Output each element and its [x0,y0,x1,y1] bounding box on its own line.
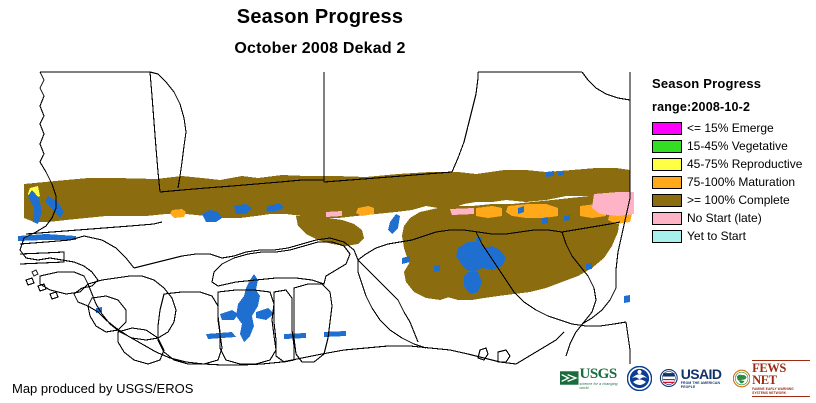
fewsnet-tagline: FAMINE EARLY WARNING SYSTEMS NETWORK [752,387,810,395]
legend-swatch-maturation [652,176,682,189]
usgs-logo[interactable]: USGS science for a changing world [560,363,620,393]
lake-small-i [624,295,630,303]
legend-item-yet-to-start[interactable]: Yet to Start [652,228,814,245]
legend-item-reproductive[interactable]: 45-75% Reproductive [652,156,814,173]
legend-swatch-yet-to-start [652,230,682,243]
legend-label-emerge: <= 15% Emerge [687,122,774,135]
legend-title: Season Progress [652,76,814,91]
legend-swatch-complete [652,194,682,207]
legend-label-reproductive: 45-75% Reproductive [687,158,802,171]
legend-range: range:2008-10-2 [652,100,814,114]
noaa-logo[interactable] [627,363,652,393]
logo-strip: USGS science for a changing world [560,362,810,394]
usgs-mark-icon [560,368,579,388]
legend-panel: Season Progress range:2008-10-2 <= 15% E… [648,70,814,260]
legend-item-vegetative[interactable]: 15-45% Vegetative [652,138,814,155]
legend-label-yet-to-start: Yet to Start [687,230,746,243]
maturation-zone-a [506,204,558,218]
usgs-tagline: science for a changing world [580,382,621,390]
legend-item-emerge[interactable]: <= 15% Emerge [652,120,814,137]
legend-item-complete[interactable]: >= 100% Complete [652,192,814,209]
maturation-zone-b [476,206,502,218]
legend-swatch-emerge [652,122,682,135]
usaid-wordmark: USAID [681,367,726,381]
map-canvas[interactable] [6,66,638,366]
legend-item-maturation[interactable]: 75-100% Maturation [652,174,814,191]
fewsnet-wordmark: FEWS NET [752,362,810,387]
no-start-zone-small-a [450,208,474,215]
no-start-zone [592,192,634,216]
lake-small-c [434,265,440,272]
usgs-wordmark: USGS [580,367,621,382]
map-credit: Map produced by USGS/EROS [12,381,193,396]
page-subtitle: October 2008 Dekad 2 [0,40,640,58]
legend-label-no-start: No Start (late) [687,212,762,225]
usaid-tagline: FROM THE AMERICAN PEOPLE [681,381,726,389]
lake-small-ne-a [546,171,554,177]
legend-label-vegetative: 15-45% Vegetative [687,140,788,153]
legend-item-no-start[interactable]: No Start (late) [652,210,814,227]
lake-small-h [586,263,592,270]
legend-label-maturation: 75-100% Maturation [687,176,795,189]
legend-swatch-no-start [652,212,682,225]
legend-swatch-reproductive [652,158,682,171]
fewsnet-globe-icon [733,367,750,390]
lake-small-e [564,215,570,221]
lake-small-d [542,217,548,224]
usaid-seal-icon [659,367,679,389]
no-start-zone-small-b [326,211,342,217]
coast-lagoon-b [284,333,306,339]
coast-lagoon-c [324,331,346,337]
legend-swatch-vegetative [652,140,682,153]
noaa-seal-icon [627,366,652,391]
map-page: Season Progress October 2008 Dekad 2 [0,0,816,403]
fewsnet-logo[interactable]: FEWS NET FAMINE EARLY WARNING SYSTEMS NE… [733,363,810,393]
legend-label-complete: >= 100% Complete [687,194,790,207]
usaid-logo[interactable]: USAID FROM THE AMERICAN PEOPLE [659,363,726,393]
page-title: Season Progress [0,6,640,29]
